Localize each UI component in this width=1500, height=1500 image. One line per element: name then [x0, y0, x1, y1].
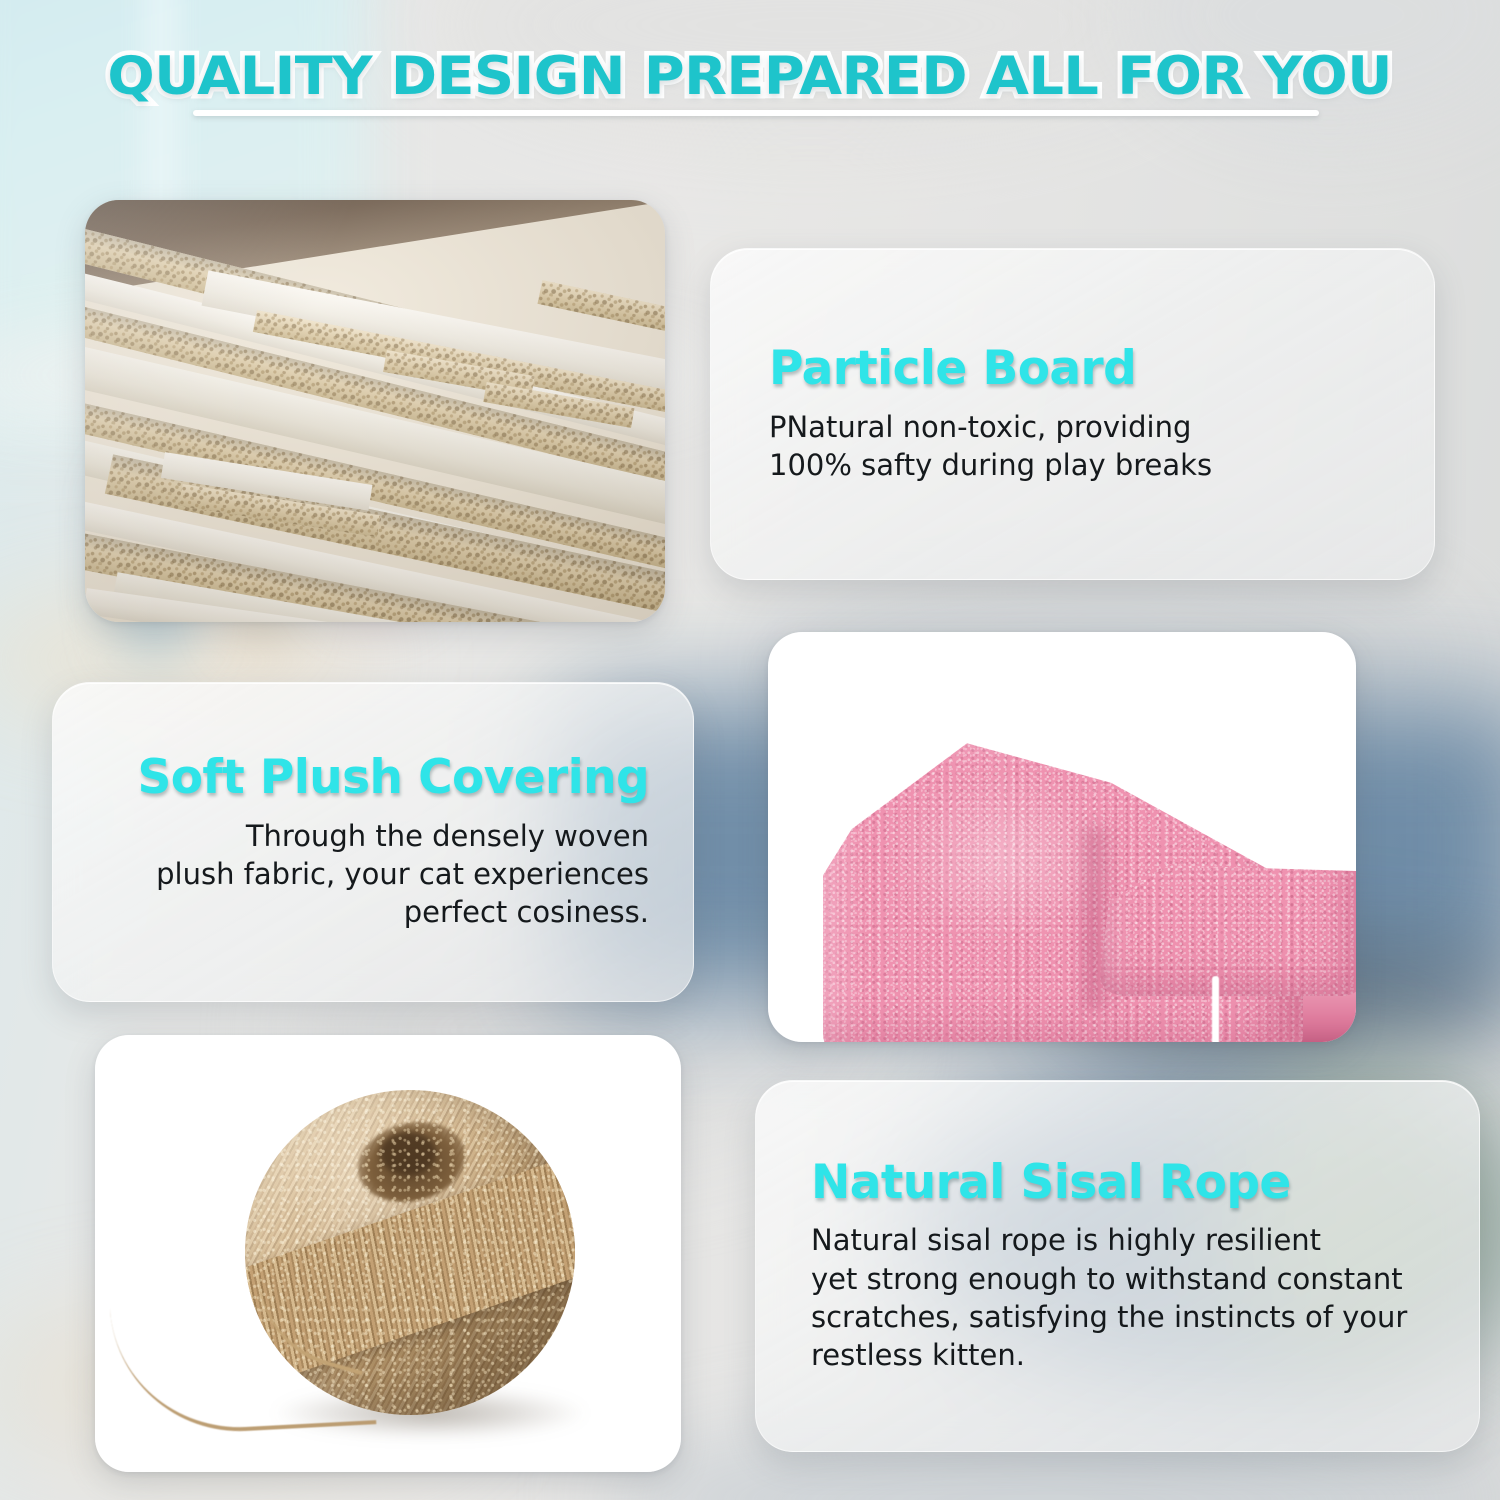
infographic-stage: QUALITY DESIGN PREPARED ALL FOR YOU [0, 0, 1500, 1500]
sisal-rope-heading: Natural Sisal Rope [811, 1158, 1291, 1208]
soft-plush-photo [768, 632, 1356, 1042]
title-underline-rule [193, 110, 1319, 116]
particle-board-photo [85, 200, 665, 622]
page-title-wrap: QUALITY DESIGN PREPARED ALL FOR YOU [0, 46, 1500, 107]
sisal-rope-photo [95, 1035, 681, 1472]
sisal-rope-text-card: Natural Sisal Rope Natural sisal rope is… [755, 1080, 1480, 1452]
particle-board-heading: Particle Board [769, 344, 1136, 394]
particle-board-body: PNatural non-toxic, providing 100% safty… [769, 408, 1212, 485]
sisal-rope-body: Natural sisal rope is highly resilient y… [811, 1221, 1407, 1374]
soft-plush-body: Through the densely woven plush fabric, … [156, 817, 649, 932]
soft-plush-heading: Soft Plush Covering [137, 753, 649, 803]
page-title: QUALITY DESIGN PREPARED ALL FOR YOU [108, 46, 1392, 107]
particle-board-text-card: Particle Board PNatural non-toxic, provi… [710, 248, 1435, 580]
soft-plush-text-card: Soft Plush Covering Through the densely … [52, 682, 694, 1002]
